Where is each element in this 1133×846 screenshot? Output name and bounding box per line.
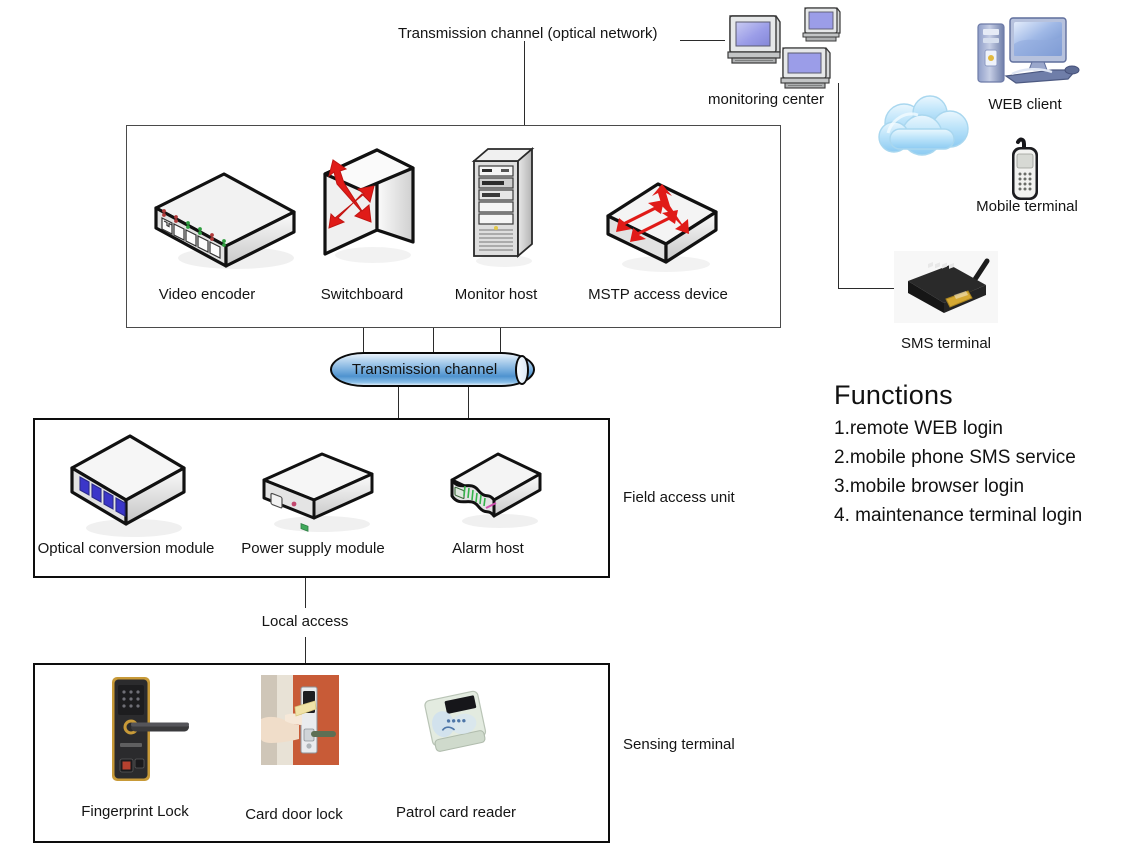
device-label-switchboard: Switchboard [321,286,404,304]
cloud-icon [872,93,980,170]
sensing-terminal-label: Sensing terminal [623,736,735,754]
device-label-power-supply: Power supply module [241,540,384,558]
monitoring-center-label: monitoring center [708,91,824,109]
sms-terminal-label: SMS terminal [901,335,991,353]
patrol-card-reader-icon [419,683,497,761]
device-label-optical-conversion: Optical conversion module [38,540,215,558]
diagram-canvas: Transmission channel (optical network) [0,0,1133,846]
web-client-icon [972,14,1080,94]
connector-channel-to-field-1 [398,387,399,418]
device-label-video-encoder: Video encoder [159,286,255,304]
function-item-3: 3.mobile browser login [834,473,1082,502]
functions-panel: Functions 1.remote WEB login 2.mobile ph… [834,380,1082,531]
connector-label-to-top-box [524,41,525,125]
power-supply-module-icon [250,448,385,533]
mstp-access-device-icon [600,178,725,273]
video-encoder-icon [148,166,298,276]
optical-network-label: Transmission channel (optical network) [398,25,658,43]
local-access-label: Local access [262,613,349,631]
connector-topbox-to-channel-1 [363,328,364,354]
transmission-channel-label: Transmission channel [352,361,497,378]
alarm-host-icon [440,450,550,530]
connector-topbox-to-channel-3 [500,328,501,354]
cylinder-end-cap [515,355,529,385]
monitor-host-icon [466,145,546,270]
device-label-card-door-lock: Card door lock [245,806,343,824]
connector-local-access-top [305,578,306,608]
function-item-4: 4. maintenance terminal login [834,502,1082,531]
monitor-icon-1 [722,12,784,75]
web-client-label: WEB client [988,96,1061,114]
device-label-patrol-card-reader: Patrol card reader [396,804,516,822]
functions-heading: Functions [834,380,1082,411]
device-label-mstp: MSTP access device [588,286,728,304]
connector-monitoring-to-sms-vertical [838,83,839,289]
connector-channel-to-field-2 [468,387,469,418]
connector-topbox-to-channel-2 [433,328,434,354]
connector-monitoring-to-sms-horizontal [838,288,894,289]
field-access-unit-label: Field access unit [623,489,735,507]
device-label-monitor-host: Monitor host [455,286,538,304]
mobile-terminal-label: Mobile terminal [976,198,1078,216]
mobile-terminal-icon [1003,138,1049,204]
function-item-1: 1.remote WEB login [834,415,1082,444]
sms-terminal-icon [894,251,998,323]
transmission-channel-cylinder: Transmission channel [330,352,535,387]
leader-line-optical-network [680,40,725,41]
switchboard-icon [315,142,425,267]
device-label-alarm-host: Alarm host [452,540,524,558]
function-item-2: 2.mobile phone SMS service [834,444,1082,473]
card-door-lock-icon [259,673,341,767]
connector-local-access-bottom [305,637,306,663]
fingerprint-lock-icon [108,675,196,783]
device-label-fingerprint-lock: Fingerprint Lock [81,803,189,821]
optical-conversion-module-icon [60,432,195,537]
